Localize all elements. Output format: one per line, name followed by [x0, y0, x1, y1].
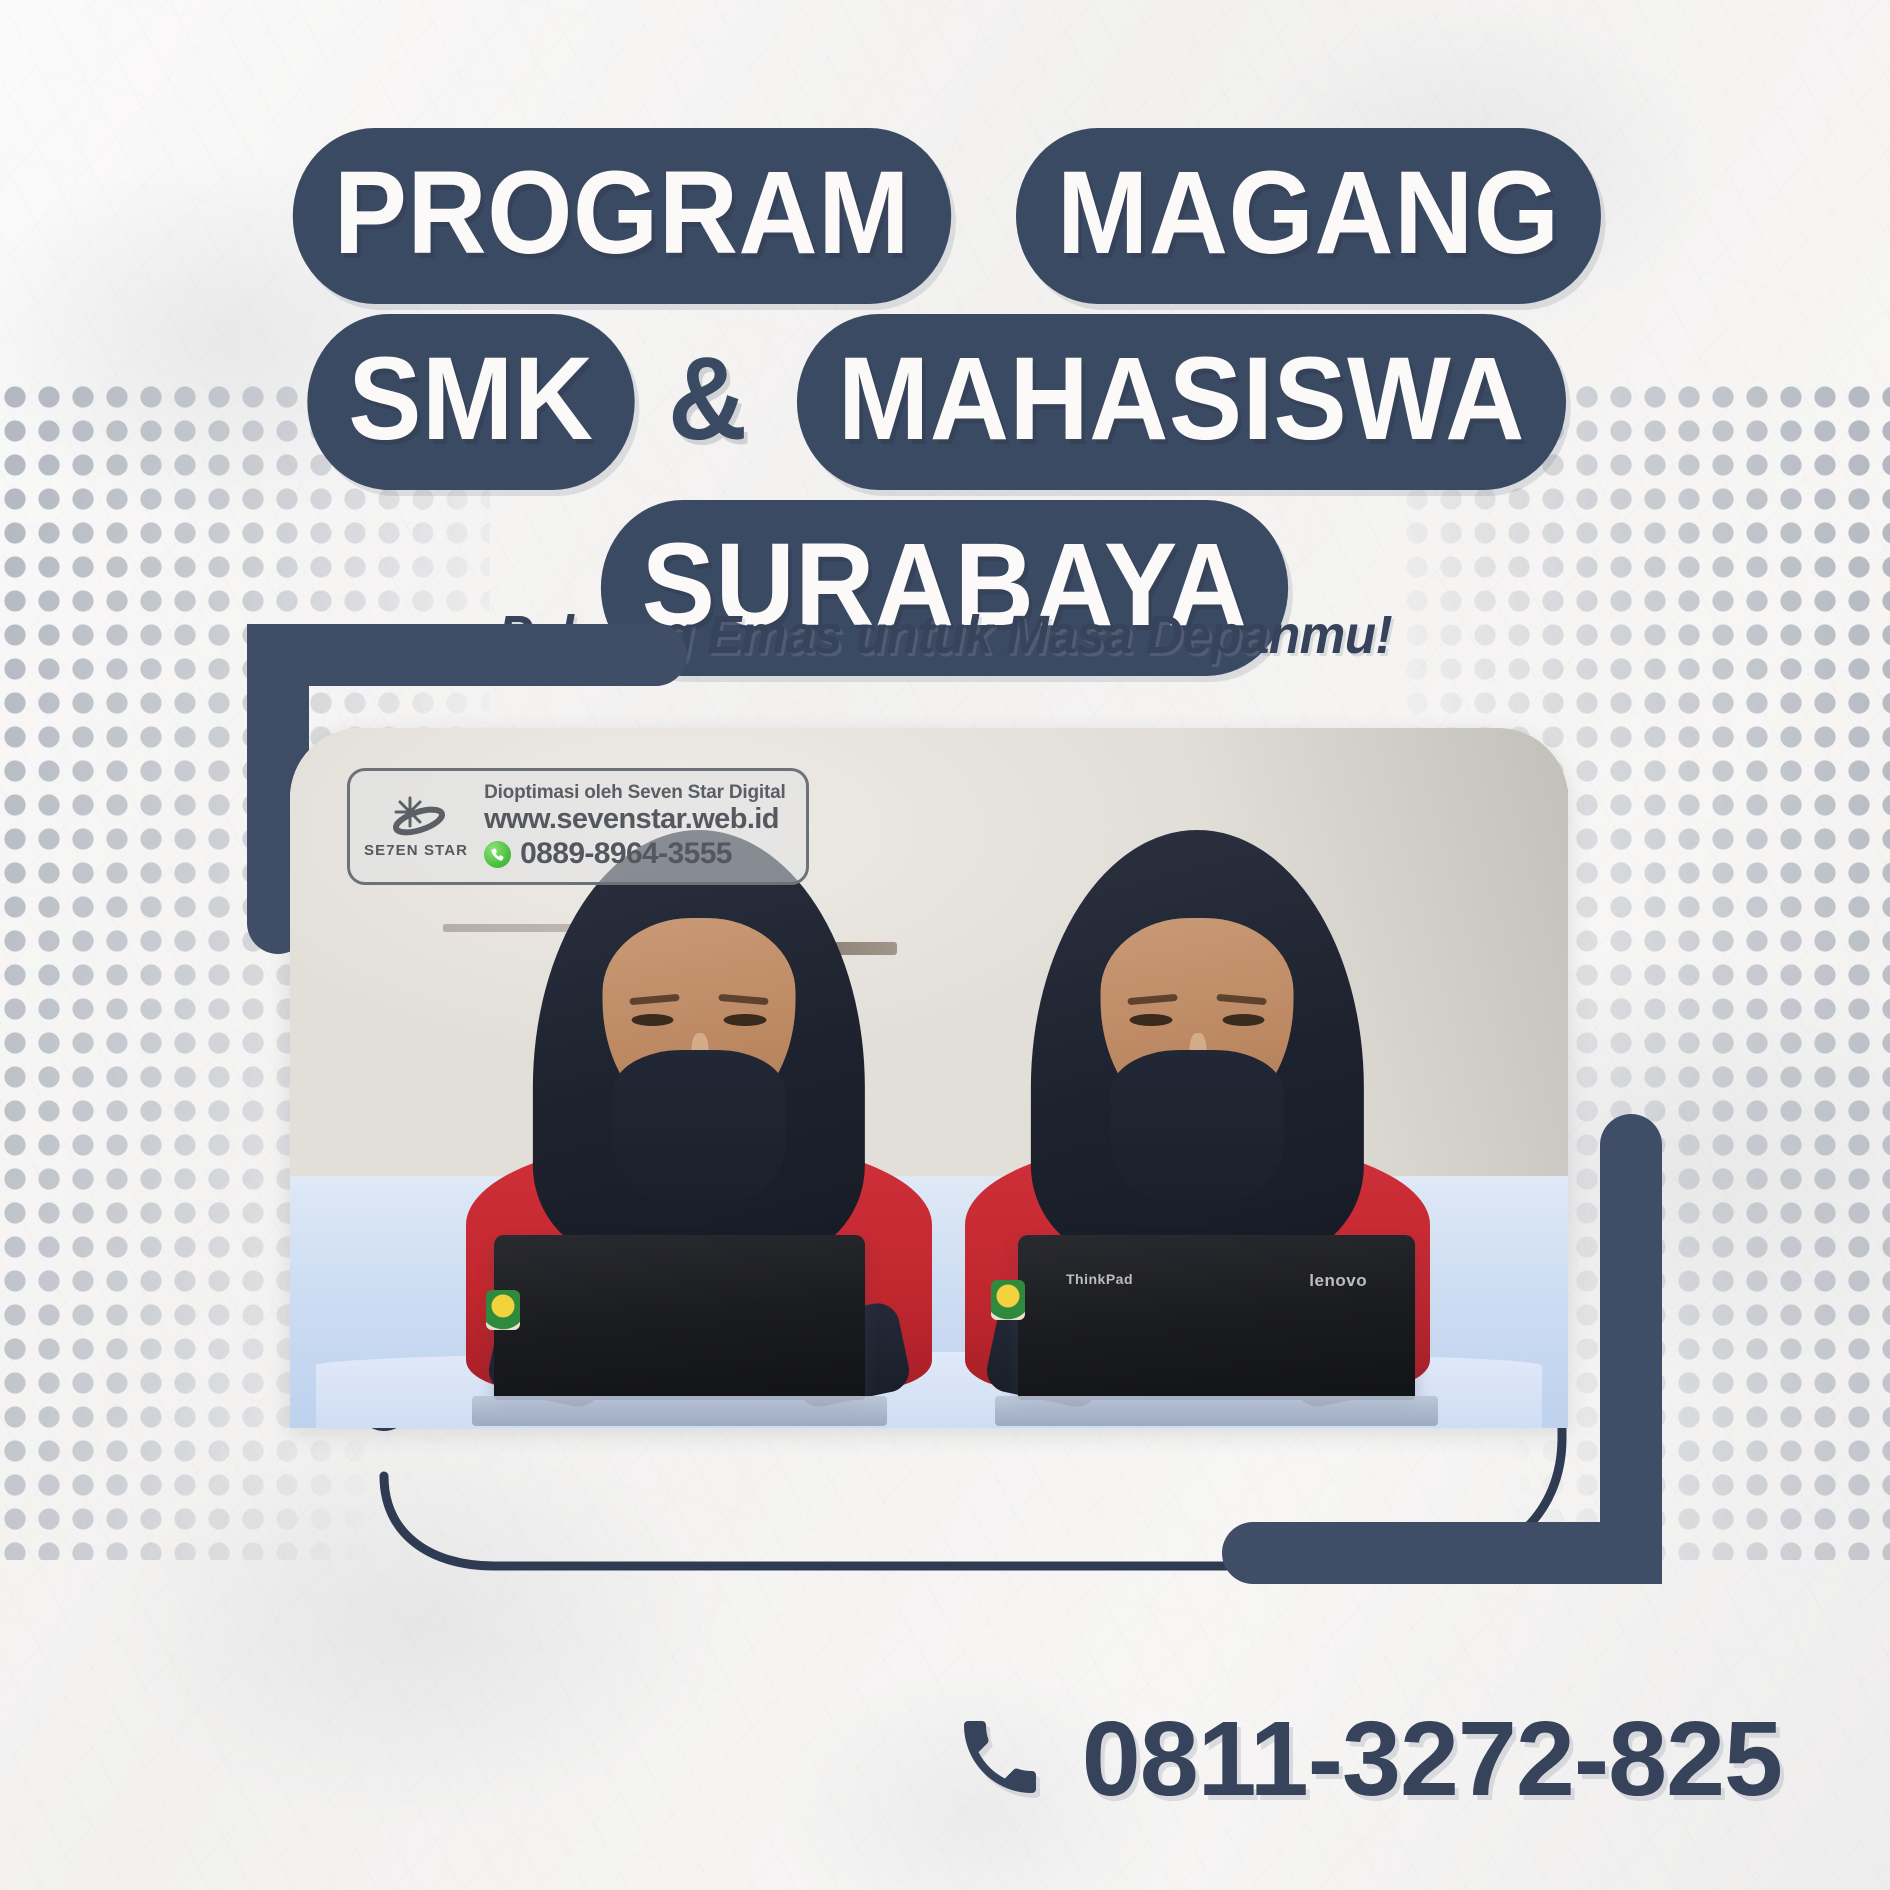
- headline-word-mahasiswa: MAHASISWA: [797, 314, 1566, 490]
- eye-left: [631, 1014, 673, 1026]
- uniform-patch-right: [991, 1280, 1025, 1320]
- headline-block: PROGRAM MAGANG SMK & MAHASISWA SURABAYA: [0, 128, 1890, 686]
- laptop-base-left: [472, 1396, 887, 1426]
- poster-canvas: PROGRAM MAGANG SMK & MAHASISWA SURABAYA …: [0, 0, 1890, 1890]
- phone-glyph: [490, 847, 505, 862]
- headline-word-smk: SMK: [307, 314, 634, 490]
- photo-block: lenovo ThinkPad: [252, 734, 1602, 1474]
- watermark-phone-row: 0889-8964-3555: [484, 837, 732, 871]
- phone-circle-icon: [484, 841, 511, 868]
- watermark-phone-number: 0889-8964-3555: [520, 837, 732, 871]
- watermark-credit-line: Dioptimasi oleh Seven Star Digital: [484, 782, 786, 804]
- watermark-website: www.sevenstar.web.id: [484, 803, 779, 836]
- headline-word-program: PROGRAM: [293, 128, 951, 304]
- phone-handset-glyph: [952, 1709, 1048, 1805]
- student-collar-left: [613, 1050, 786, 1200]
- headline-line-2: SMK & MAHASISWA: [0, 314, 1890, 490]
- uniform-patch-left: [486, 1290, 520, 1330]
- laptop-brand-thinkpad: ThinkPad: [1066, 1271, 1133, 1287]
- eye-left: [1130, 1014, 1172, 1026]
- watermark-badge: SE7EN STAR Dioptimasi oleh Seven Star Di…: [347, 768, 809, 885]
- sevenstar-logo: SE7EN STAR: [364, 794, 468, 859]
- laptop-lid-left: [494, 1235, 865, 1400]
- brow-left: [1128, 994, 1179, 1005]
- headline-line-1: PROGRAM MAGANG: [0, 128, 1890, 304]
- headline-word-magang: MAGANG: [1016, 128, 1601, 304]
- phone-handset-icon: [952, 1709, 1048, 1810]
- eye-right: [1222, 1014, 1264, 1026]
- photo-laptop-left: [494, 1235, 865, 1400]
- headline-ampersand: &: [668, 340, 747, 464]
- star-swoosh-icon: [385, 794, 447, 840]
- footer-contact[interactable]: 0811-3272-825: [952, 1706, 1782, 1812]
- corner-bracket-bottom-right: [1222, 1114, 1662, 1584]
- brow-left: [629, 994, 680, 1005]
- footer-phone-number: 0811-3272-825: [1082, 1706, 1782, 1812]
- sevenstar-brand-text: SE7EN STAR: [364, 842, 468, 859]
- brow-right: [1216, 994, 1267, 1005]
- eye-right: [724, 1014, 766, 1026]
- watermark-text-block: Dioptimasi oleh Seven Star Digital www.s…: [484, 782, 786, 871]
- brow-right: [718, 994, 769, 1005]
